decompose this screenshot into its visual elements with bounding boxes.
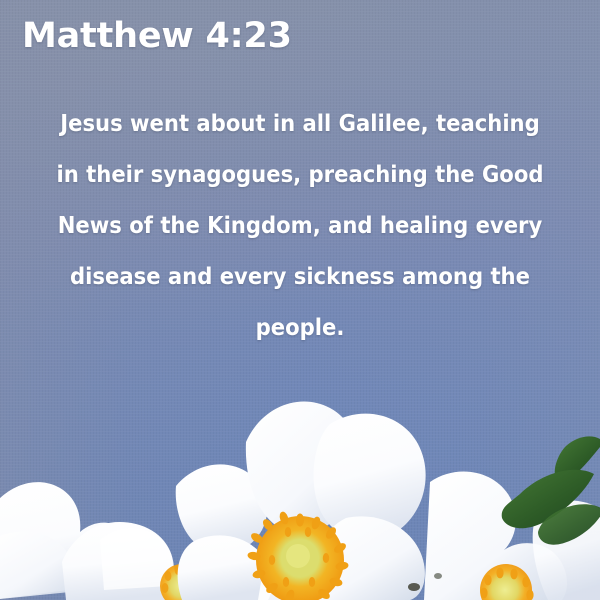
verse-line: Jesus went about in all Galilee, teachin…	[26, 98, 574, 149]
verse-line: disease and every sickness among the	[26, 251, 574, 302]
verse-reference-title: Matthew 4:23	[22, 14, 292, 58]
verse-line: people.	[26, 302, 574, 353]
verse-line: News of the Kingdom, and healing every	[26, 200, 574, 251]
verse-line: in their synagogues, preaching the Good	[26, 149, 574, 200]
verse-image-card: Matthew 4:23 Jesus went about in all Gal…	[0, 0, 600, 600]
verse-text-block: Jesus went about in all Galilee, teachin…	[26, 98, 574, 353]
